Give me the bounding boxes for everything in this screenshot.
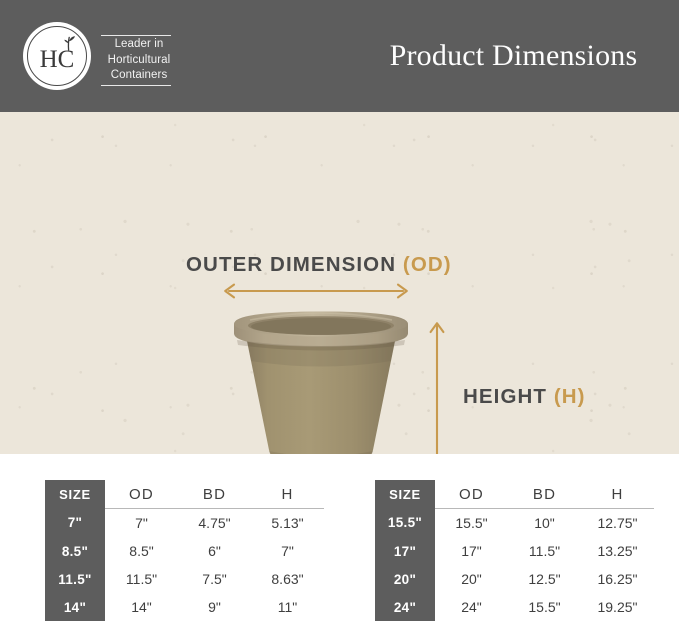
cell-h: 12.75" [581, 509, 654, 538]
brand-tagline: Leader in Horticultural Containers [101, 37, 177, 84]
cell-od: 8.5" [105, 537, 178, 565]
cell-od: 24" [435, 593, 508, 621]
cell-od: 11.5" [105, 565, 178, 593]
cell-h: 8.63" [251, 565, 324, 593]
cell-od: 14" [105, 593, 178, 621]
table-row: 14" 14" 9" 11" [45, 593, 324, 621]
cell-bd: 15.5" [508, 593, 581, 621]
column-header-h: H [251, 480, 324, 509]
height-text: HEIGHT [463, 385, 547, 408]
cell-od: 20" [435, 565, 508, 593]
logo-monogram: HC [23, 22, 91, 90]
column-header-bd: BD [178, 480, 251, 509]
brand-tagline-line-3: Containers [101, 68, 177, 84]
cell-h: 13.25" [581, 537, 654, 565]
brand-logo: HC [23, 22, 93, 92]
cell-od: 17" [435, 537, 508, 565]
cell-bd: 11.5" [508, 537, 581, 565]
outer-dimension-label: OUTER DIMENSION (OD) [186, 253, 452, 277]
cell-size: 15.5" [375, 509, 435, 538]
cell-bd: 6" [178, 537, 251, 565]
outer-dimension-abbr: (OD) [403, 253, 452, 276]
column-header-h: H [581, 480, 654, 509]
sprout-icon [59, 35, 79, 51]
cell-h: 5.13" [251, 509, 324, 538]
cell-bd: 7.5" [178, 565, 251, 593]
cell-size: 20" [375, 565, 435, 593]
table-header-row: SIZE OD BD H [45, 480, 324, 509]
planter-pot-illustration [228, 310, 414, 454]
table-row: 11.5" 11.5" 7.5" 8.63" [45, 565, 324, 593]
cell-size: 8.5" [45, 537, 105, 565]
table-header-row: SIZE OD BD H [375, 480, 654, 509]
table-row: 20" 20" 12.5" 16.25" [375, 565, 654, 593]
cell-bd: 4.75" [178, 509, 251, 538]
table-row: 17" 17" 11.5" 13.25" [375, 537, 654, 565]
diagram-panel: OUTER DIMENSION (OD) HEIGHT (H) [0, 112, 679, 454]
outer-dimension-text: OUTER DIMENSION [186, 253, 396, 276]
column-header-size: SIZE [45, 480, 105, 509]
cell-size: 24" [375, 593, 435, 621]
page-header: HC Leader in Horticultural Containers Pr… [0, 0, 679, 112]
size-table-large: SIZE OD BD H 15.5" 15.5" 10" 12.75" 17" … [375, 480, 654, 621]
cell-h: 19.25" [581, 593, 654, 621]
height-label: HEIGHT (H) [463, 385, 586, 409]
size-tables-section: SIZE OD BD H 7" 7" 4.75" 5.13" 8.5" 8.5"… [0, 454, 679, 636]
cell-h: 11" [251, 593, 324, 621]
cell-od: 15.5" [435, 509, 508, 538]
page-title: Product Dimensions [340, 0, 679, 112]
cell-h: 7" [251, 537, 324, 565]
column-header-bd: BD [508, 480, 581, 509]
height-abbr: (H) [554, 385, 586, 408]
logo-divider-bottom [101, 85, 171, 86]
cell-size: 14" [45, 593, 105, 621]
brand-tagline-line-1: Leader in [101, 37, 177, 53]
cell-bd: 12.5" [508, 565, 581, 593]
outer-dimension-arrow-icon [222, 282, 410, 300]
cell-od: 7" [105, 509, 178, 538]
cell-bd: 10" [508, 509, 581, 538]
cell-h: 16.25" [581, 565, 654, 593]
column-header-size: SIZE [375, 480, 435, 509]
cell-size: 7" [45, 509, 105, 538]
cell-bd: 9" [178, 593, 251, 621]
column-header-od: OD [105, 480, 178, 509]
brand-tagline-line-2: Horticultural [101, 53, 177, 69]
column-header-od: OD [435, 480, 508, 509]
table-row: 15.5" 15.5" 10" 12.75" [375, 509, 654, 538]
table-row: 24" 24" 15.5" 19.25" [375, 593, 654, 621]
table-row: 7" 7" 4.75" 5.13" [45, 509, 324, 538]
height-arrow-icon [428, 320, 446, 454]
size-table-small: SIZE OD BD H 7" 7" 4.75" 5.13" 8.5" 8.5"… [45, 480, 324, 621]
cell-size: 17" [375, 537, 435, 565]
cell-size: 11.5" [45, 565, 105, 593]
table-row: 8.5" 8.5" 6" 7" [45, 537, 324, 565]
